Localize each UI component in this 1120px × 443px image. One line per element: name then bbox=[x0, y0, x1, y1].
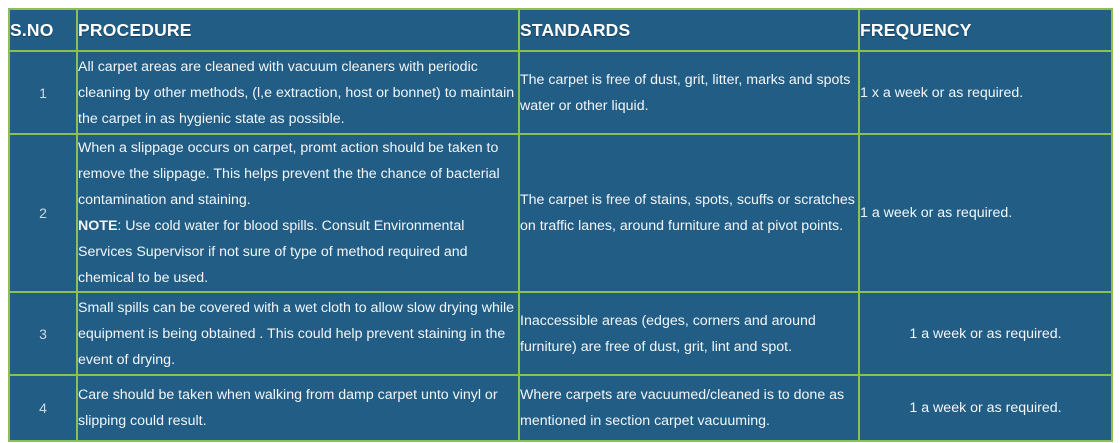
column-header-standards: STANDARDS bbox=[519, 9, 859, 51]
table-row: 4 Care should be taken when walking from… bbox=[9, 375, 1112, 441]
procedure-note-label: NOTE bbox=[78, 218, 117, 234]
frequency-text: 1 x a week or as required. bbox=[860, 85, 1023, 101]
cell-frequency: 1 a week or as required. bbox=[859, 134, 1112, 292]
procedure-text: When a slippage occurs on carpet, promt … bbox=[78, 140, 500, 208]
table-header: S.NO PROCEDURE STANDARDS FREQUENCY bbox=[9, 9, 1112, 51]
procedure-note-text: : Use cold water for blood spills. Consu… bbox=[78, 218, 468, 286]
standards-text: Inaccessible areas (edges, corners and a… bbox=[520, 313, 816, 355]
frequency-text: 1 a week or as required. bbox=[909, 326, 1061, 342]
table-row: 2 When a slippage occurs on carpet, prom… bbox=[9, 134, 1112, 292]
frequency-text: 1 a week or as required. bbox=[909, 400, 1061, 416]
column-header-frequency: FREQUENCY bbox=[859, 9, 1112, 51]
cell-sno: 4 bbox=[9, 375, 77, 441]
cleaning-procedure-table: S.NO PROCEDURE STANDARDS FREQUENCY 1 All… bbox=[8, 8, 1113, 442]
standards-text: The carpet is free of stains, spots, scu… bbox=[520, 192, 855, 234]
column-header-procedure: PROCEDURE bbox=[77, 9, 519, 51]
standards-text: The carpet is free of dust, grit, litter… bbox=[520, 72, 850, 114]
cell-frequency: 1 a week or as required. bbox=[859, 292, 1112, 375]
procedure-text: Small spills can be covered with a wet c… bbox=[78, 300, 514, 368]
cell-standards: The carpet is free of stains, spots, scu… bbox=[519, 134, 859, 292]
standards-text: Where carpets are vacuumed/cleaned is to… bbox=[520, 387, 844, 429]
cell-procedure: Care should be taken when walking from d… bbox=[77, 375, 519, 441]
frequency-text: 1 a week or as required. bbox=[860, 205, 1012, 221]
cell-standards: Where carpets are vacuumed/cleaned is to… bbox=[519, 375, 859, 441]
procedure-text: Care should be taken when walking from d… bbox=[78, 387, 498, 429]
procedure-text: All carpet areas are cleaned with vacuum… bbox=[78, 59, 514, 127]
cell-procedure: All carpet areas are cleaned with vacuum… bbox=[77, 51, 519, 134]
cell-sno: 1 bbox=[9, 51, 77, 134]
cell-procedure: Small spills can be covered with a wet c… bbox=[77, 292, 519, 375]
cell-sno: 3 bbox=[9, 292, 77, 375]
cell-standards: The carpet is free of dust, grit, litter… bbox=[519, 51, 859, 134]
cell-frequency: 1 x a week or as required. bbox=[859, 51, 1112, 134]
cell-procedure: When a slippage occurs on carpet, promt … bbox=[77, 134, 519, 292]
procedure-table-container: S.NO PROCEDURE STANDARDS FREQUENCY 1 All… bbox=[8, 8, 1111, 437]
column-header-sno: S.NO bbox=[9, 9, 77, 51]
table-row: 1 All carpet areas are cleaned with vacu… bbox=[9, 51, 1112, 134]
cell-sno: 2 bbox=[9, 134, 77, 292]
table-row: 3 Small spills can be covered with a wet… bbox=[9, 292, 1112, 375]
cell-standards: Inaccessible areas (edges, corners and a… bbox=[519, 292, 859, 375]
cell-frequency: 1 a week or as required. bbox=[859, 375, 1112, 441]
table-body: 1 All carpet areas are cleaned with vacu… bbox=[9, 51, 1112, 441]
table-header-row: S.NO PROCEDURE STANDARDS FREQUENCY bbox=[9, 9, 1112, 51]
